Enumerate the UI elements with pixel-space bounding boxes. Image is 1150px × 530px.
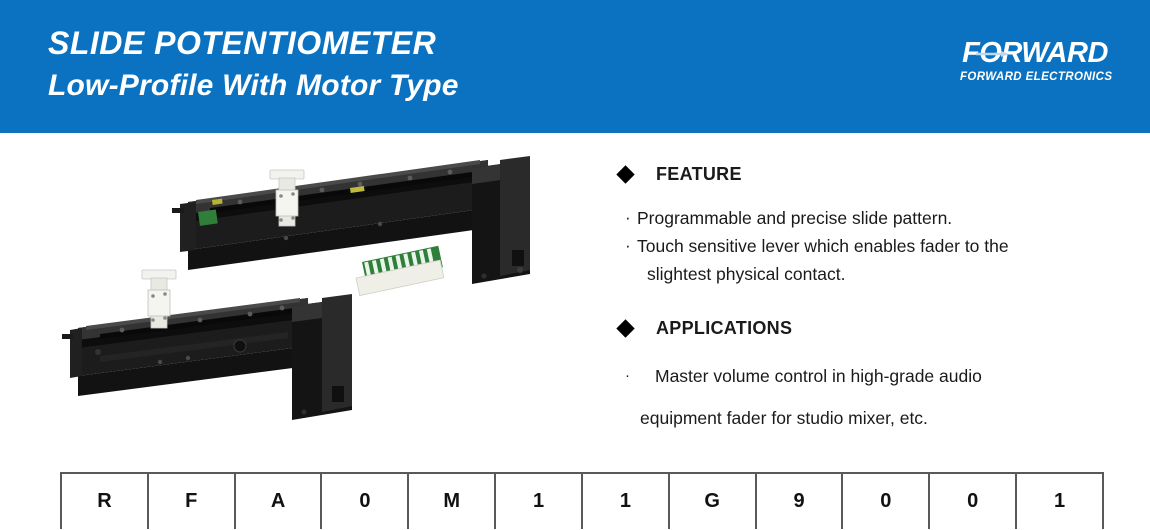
feature-heading-row: FEATURE: [615, 160, 1115, 188]
feature-list: · Programmable and precise slide pattern…: [615, 204, 1115, 288]
info-column: FEATURE · Programmable and precise slide…: [615, 160, 1115, 432]
logo-wordmark: FORWARD: [960, 38, 1110, 68]
part-number-cell[interactable]: 0: [322, 474, 409, 529]
part-number-cell[interactable]: G: [670, 474, 757, 529]
part-number-cell[interactable]: A: [236, 474, 323, 529]
slide-potentiometer-photo: [60, 150, 580, 440]
part-number-cell[interactable]: F: [149, 474, 236, 529]
part-number-cell[interactable]: 1: [1017, 474, 1104, 529]
header-banner: SLIDE POTENTIOMETER Low-Profile With Mot…: [0, 0, 1150, 133]
header-title-group: SLIDE POTENTIOMETER Low-Profile With Mot…: [48, 22, 459, 108]
applications-item-text-continued: equipment fader for studio mixer, etc.: [640, 404, 1115, 432]
part-number-cell[interactable]: 0: [930, 474, 1017, 529]
page-title: SLIDE POTENTIOMETER: [48, 22, 459, 64]
bullet-dot-icon: ·: [625, 362, 655, 390]
feature-item-text-continued: slightest physical contact.: [647, 260, 1115, 288]
feature-item-text: Programmable and precise slide pattern.: [637, 204, 952, 232]
logo-subtitle: FORWARD ELECTRONICS: [960, 69, 1110, 85]
list-item: · Master volume control in high-grade au…: [615, 362, 1115, 432]
product-photo: [60, 150, 580, 440]
part-number-cell[interactable]: 1: [583, 474, 670, 529]
part-number-cell[interactable]: 1: [496, 474, 583, 529]
diamond-bullet-icon: [616, 319, 634, 337]
bullet-dot-icon: ·: [625, 232, 637, 260]
feature-item-text: Touch sensitive lever which enables fade…: [637, 232, 1009, 260]
diamond-bullet-icon: [616, 165, 634, 183]
bullet-dot-icon: ·: [625, 204, 637, 232]
list-item: · Touch sensitive lever which enables fa…: [615, 232, 1115, 288]
applications-heading-row: APPLICATIONS: [615, 314, 1115, 342]
applications-list: · Master volume control in high-grade au…: [615, 362, 1115, 432]
applications-item-text: Master volume control in high-grade audi…: [655, 362, 982, 390]
part-number-cell[interactable]: 9: [757, 474, 844, 529]
applications-heading-label: APPLICATIONS: [656, 318, 792, 339]
part-number-cell[interactable]: R: [62, 474, 149, 529]
page-subtitle: Low-Profile With Motor Type: [48, 64, 459, 108]
part-number-cell[interactable]: M: [409, 474, 496, 529]
list-item: · Programmable and precise slide pattern…: [615, 204, 1115, 232]
part-number-cell[interactable]: 0: [843, 474, 930, 529]
part-number-table: R F A 0 M 1 1 G 9 0 0 1: [60, 472, 1104, 529]
feature-heading-label: FEATURE: [656, 164, 742, 185]
company-logo: FORWARD FORWARD ELECTRONICS: [960, 38, 1110, 90]
logo-word-text: FORWARD: [960, 38, 1110, 68]
